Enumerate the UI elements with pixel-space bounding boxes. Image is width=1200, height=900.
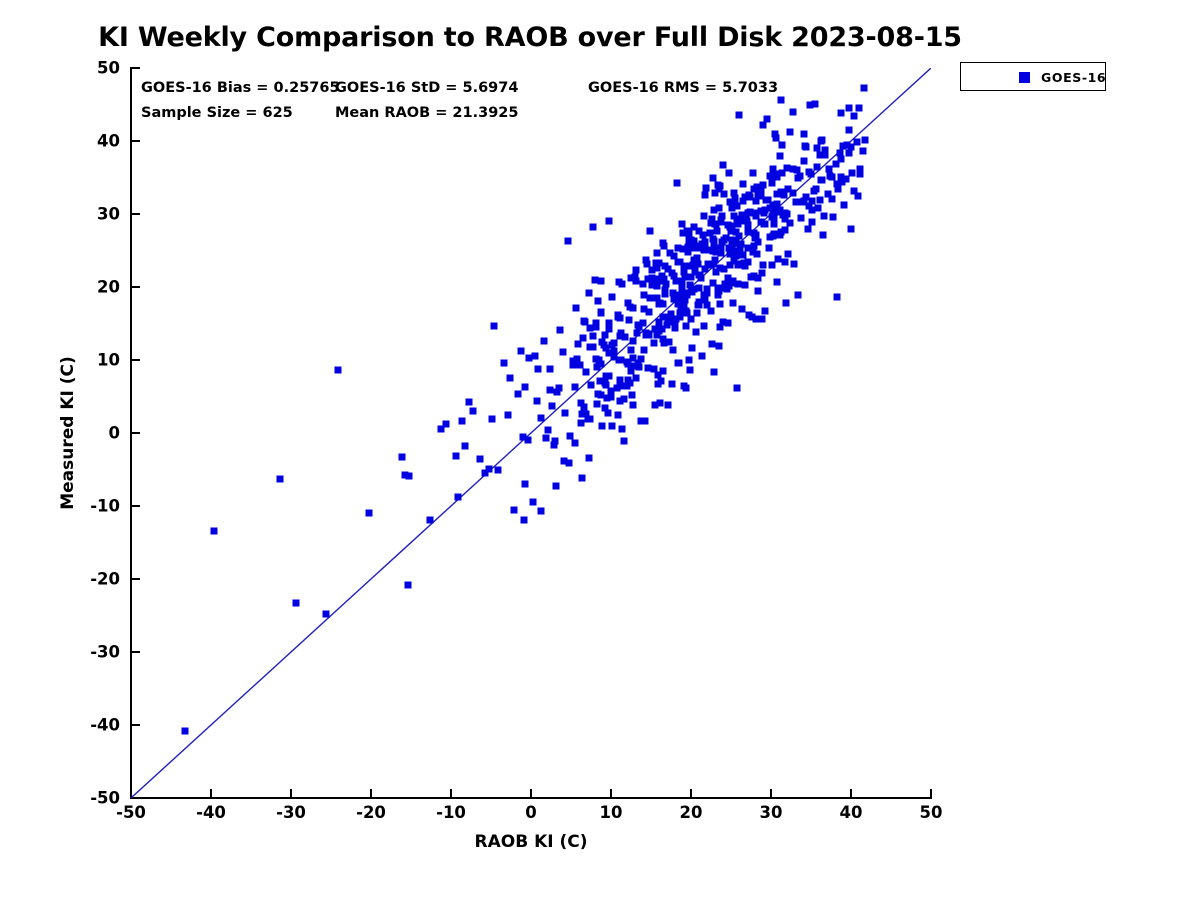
scatter-point — [798, 199, 805, 206]
scatter-point — [182, 727, 189, 734]
scatter-point — [861, 136, 868, 143]
scatter-point — [606, 373, 613, 380]
y-tick-label-30: 30 — [60, 205, 120, 224]
scatter-point — [724, 320, 731, 327]
scatter-point — [669, 269, 676, 276]
scatter-point — [759, 316, 766, 323]
scatter-point — [689, 262, 696, 269]
scatter-point — [738, 306, 745, 313]
scatter-point — [782, 259, 789, 266]
scatter-point — [790, 108, 797, 115]
scatter-point — [520, 434, 527, 441]
scatter-point — [759, 181, 766, 188]
scatter-point — [611, 354, 618, 361]
scatter-point — [577, 361, 584, 368]
scatter-point — [860, 148, 867, 155]
legend-swatch-goes16 — [1019, 72, 1030, 83]
scatter-point — [688, 273, 695, 280]
scatter-point — [674, 180, 681, 187]
scatter-point — [820, 232, 827, 239]
scatter-point — [692, 328, 699, 335]
scatter-point — [651, 340, 658, 347]
scatter-point — [736, 112, 743, 119]
scatter-point — [750, 273, 757, 280]
scatter-point — [593, 319, 600, 326]
scatter-point — [556, 327, 563, 334]
scatter-point — [800, 130, 807, 137]
scatter-point — [777, 228, 784, 235]
x-tick-label-30: 30 — [736, 803, 806, 822]
scatter-point — [404, 581, 411, 588]
scatter-point — [630, 338, 637, 345]
x-tick-label-50: 50 — [896, 803, 966, 822]
x-tick-label--40: -40 — [176, 803, 246, 822]
scatter-point — [608, 294, 615, 301]
scatter-point — [672, 323, 679, 330]
y-tick-label-50: 50 — [60, 59, 120, 78]
x-tick-label-0: 0 — [496, 803, 566, 822]
scatter-point — [609, 423, 616, 430]
scatter-point — [276, 475, 283, 482]
scatter-point — [715, 343, 722, 350]
scatter-point — [585, 289, 592, 296]
scatter-point — [608, 341, 615, 348]
plot-area — [131, 68, 931, 798]
legend-box: GOES-16 — [960, 62, 1106, 91]
scatter-point — [725, 222, 732, 229]
x-tick-label-10: 10 — [576, 803, 646, 822]
scatter-point — [733, 215, 740, 222]
scatter-point — [743, 218, 750, 225]
scatter-point — [617, 330, 624, 337]
scatter-point — [659, 273, 666, 280]
scatter-point — [365, 509, 372, 516]
one-to-one-reference-line — [131, 68, 931, 798]
scatter-point — [753, 232, 760, 239]
scatter-point — [511, 506, 518, 513]
scatter-point — [581, 403, 588, 410]
scatter-point — [720, 237, 727, 244]
scatter-point — [783, 299, 790, 306]
scatter-point — [713, 268, 720, 275]
scatter-point — [733, 385, 740, 392]
scatter-point — [702, 265, 709, 272]
scatter-point — [470, 408, 477, 415]
scatter-point — [687, 316, 694, 323]
scatter-point — [537, 414, 544, 421]
scatter-point — [579, 475, 586, 482]
scatter-point — [693, 245, 700, 252]
scatter-point — [739, 181, 746, 188]
x-axis-label: RAOB KI (C) — [474, 832, 587, 852]
scatter-point — [615, 278, 622, 285]
scatter-point — [755, 287, 762, 294]
scatter-point — [727, 261, 734, 268]
scatter-point — [752, 209, 759, 216]
scatter-point — [813, 186, 820, 193]
scatter-point — [700, 212, 707, 219]
scatter-point — [701, 322, 708, 329]
scatter-point — [643, 330, 650, 337]
scatter-point — [443, 420, 450, 427]
scatter-point — [741, 259, 748, 266]
scatter-point — [638, 417, 645, 424]
scatter-point — [292, 600, 299, 607]
scatter-point — [683, 227, 690, 234]
scatter-point — [661, 290, 668, 297]
scatter-point — [628, 392, 635, 399]
scatter-point — [797, 172, 804, 179]
scatter-point — [660, 300, 667, 307]
scatter-point — [335, 367, 342, 374]
scatter-point — [455, 493, 462, 500]
scatter-point — [845, 127, 852, 134]
scatter-point — [633, 330, 640, 337]
scatter-point — [829, 196, 836, 203]
scatter-point — [681, 273, 688, 280]
scatter-point — [594, 364, 601, 371]
scatter-point — [855, 193, 862, 200]
scatter-point — [814, 205, 821, 212]
scatter-point — [583, 369, 590, 376]
scatter-point — [732, 200, 739, 207]
scatter-point — [795, 292, 802, 299]
scatter-point — [717, 301, 724, 308]
scatter-point — [618, 426, 625, 433]
scatter-point — [779, 141, 786, 148]
scatter-point — [654, 331, 661, 338]
x-tick-label-20: 20 — [656, 803, 726, 822]
scatter-point — [605, 218, 612, 225]
scatter-point — [695, 300, 702, 307]
scatter-point — [607, 393, 614, 400]
scatter-point — [684, 291, 691, 298]
scatter-point — [680, 382, 687, 389]
scatter-point — [803, 143, 810, 150]
y-tick-label--30: -30 — [60, 643, 120, 662]
scatter-point — [687, 236, 694, 243]
scatter-point — [535, 366, 542, 373]
scatter-point — [656, 259, 663, 266]
scatter-point — [615, 411, 622, 418]
scatter-point — [789, 190, 796, 197]
scatter-point — [825, 165, 832, 172]
scatter-point — [587, 382, 594, 389]
scatter-point — [466, 398, 473, 405]
scatter-point — [572, 440, 579, 447]
scatter-point — [848, 226, 855, 233]
scatter-point — [624, 359, 631, 366]
scatter-point — [805, 203, 812, 210]
scatter-point — [653, 250, 660, 257]
scatter-point — [715, 204, 722, 211]
scatter-point — [817, 177, 824, 184]
scatter-point — [640, 306, 647, 313]
scatter-point — [717, 324, 724, 331]
scatter-point — [500, 359, 507, 366]
scatter-point — [761, 220, 768, 227]
scatter-point — [797, 215, 804, 222]
scatter-point — [594, 400, 601, 407]
scatter-point — [663, 280, 670, 287]
scatter-point — [543, 434, 550, 441]
scatter-point — [829, 174, 836, 181]
scatter-point — [585, 454, 592, 461]
scatter-point — [850, 112, 857, 119]
scatter-point — [461, 443, 468, 450]
scatter-point — [730, 299, 737, 306]
scatter-point — [547, 387, 554, 394]
scatter-point — [614, 313, 621, 320]
scatter-point — [784, 165, 791, 172]
scatter-point — [323, 611, 330, 618]
scatter-point — [577, 419, 584, 426]
scatter-point — [805, 225, 812, 232]
x-tick-label--50: -50 — [96, 803, 166, 822]
scatter-point — [781, 192, 788, 199]
scatter-point — [837, 110, 844, 117]
scatter-point — [534, 397, 541, 404]
scatter-point — [848, 143, 855, 150]
reference-line-layer — [131, 68, 931, 798]
scatter-point — [728, 237, 735, 244]
scatter-point — [714, 228, 721, 235]
scatter-point — [808, 170, 815, 177]
scatter-point — [746, 312, 753, 319]
scatter-point — [590, 343, 597, 350]
scatter-point — [725, 245, 732, 252]
scatter-point — [521, 384, 528, 391]
scatter-point — [648, 266, 655, 273]
scatter-point — [744, 210, 751, 217]
scatter-point — [628, 346, 635, 353]
scatter-point — [691, 223, 698, 230]
scatter-point — [820, 212, 827, 219]
scatter-point — [702, 191, 709, 198]
scatter-point — [572, 305, 579, 312]
scatter-point — [540, 338, 547, 345]
scatter-point — [860, 85, 867, 92]
scatter-point — [840, 202, 847, 209]
y-tick-label-40: 40 — [60, 132, 120, 151]
chart-title: KI Weekly Comparison to RAOB over Full D… — [0, 22, 1060, 53]
scatter-point — [507, 375, 514, 382]
scatter-point — [759, 262, 766, 269]
scatter-point — [718, 249, 725, 256]
scatter-point — [599, 423, 606, 430]
scatter-point — [787, 129, 794, 136]
scatter-point — [596, 356, 603, 363]
scatter-point — [664, 401, 671, 408]
scatter-point — [715, 287, 722, 294]
scatter-point — [845, 104, 852, 111]
x-tick-label--20: -20 — [336, 803, 406, 822]
scatter-point — [476, 456, 483, 463]
scatter-point — [707, 308, 714, 315]
scatter-point — [777, 152, 784, 159]
scatter-point — [627, 380, 634, 387]
scatter-point — [663, 313, 670, 320]
scatter-point — [761, 308, 768, 315]
scatter-point — [504, 412, 511, 419]
scatter-point — [515, 391, 522, 398]
scatter-point — [645, 276, 652, 283]
scatter-point — [572, 383, 579, 390]
scatter-point — [667, 250, 674, 257]
scatter-point — [532, 353, 539, 360]
y-tick-label-20: 20 — [60, 278, 120, 297]
scatter-point — [564, 238, 571, 245]
y-tick-label--40: -40 — [60, 716, 120, 735]
scatter-point — [720, 190, 727, 197]
scatter-point — [689, 345, 696, 352]
scatter-point — [567, 432, 574, 439]
scatter-point — [578, 410, 585, 417]
x-tick-label--10: -10 — [416, 803, 486, 822]
scatter-point — [698, 353, 705, 360]
scatter-point — [655, 318, 662, 325]
scatter-point — [811, 101, 818, 108]
scatter-point — [712, 257, 719, 264]
x-tick-label--30: -30 — [256, 803, 326, 822]
scatter-point — [625, 299, 632, 306]
scatter-point — [703, 302, 710, 309]
scatter-point — [559, 349, 566, 356]
scatter-point — [639, 320, 646, 327]
scatter-point — [725, 170, 732, 177]
scatter-point — [742, 281, 749, 288]
scatter-point — [626, 316, 633, 323]
scatter-point — [817, 152, 824, 159]
scatter-point — [647, 228, 654, 235]
scatter-point — [768, 180, 775, 187]
scatter-point — [580, 335, 587, 342]
scatter-point — [677, 313, 684, 320]
scatter-point — [597, 391, 604, 398]
scatter-point — [721, 281, 728, 288]
scatter-point — [569, 358, 576, 365]
scatter-point — [800, 158, 807, 165]
scatter-point — [762, 207, 769, 214]
scatter-point — [781, 215, 788, 222]
legend-label-goes16: GOES-16 — [1041, 70, 1106, 85]
scatter-point — [687, 366, 694, 373]
scatter-point — [647, 294, 654, 301]
scatter-point — [552, 438, 559, 445]
scatter-point — [604, 410, 611, 417]
scatter-point — [833, 294, 840, 301]
scatter-point — [708, 340, 715, 347]
scatter-point — [495, 466, 502, 473]
scatter-point — [784, 250, 791, 257]
scatter-point — [740, 252, 747, 259]
scatter-point — [774, 279, 781, 286]
scatter-point — [628, 274, 635, 281]
scatter-point — [653, 294, 660, 301]
scatter-point — [685, 357, 692, 364]
scatter-point — [459, 418, 466, 425]
scatter-point — [739, 197, 746, 204]
scatter-point — [749, 170, 756, 177]
scatter-point — [589, 223, 596, 230]
scatter-point — [769, 232, 776, 239]
scatter-point — [765, 245, 772, 252]
scatter-point — [769, 207, 776, 214]
scatter-point — [711, 237, 718, 244]
scatter-point — [680, 300, 687, 307]
scatter-point — [522, 480, 529, 487]
scatter-point — [856, 104, 863, 111]
scatter-point — [703, 290, 710, 297]
scatter-point — [597, 277, 604, 284]
scatter-point — [616, 398, 623, 405]
scatter-point — [719, 213, 726, 220]
chart-canvas: KI Weekly Comparison to RAOB over Full D… — [0, 0, 1200, 900]
scatter-point — [711, 368, 718, 375]
scatter-point — [633, 375, 640, 382]
scatter-point — [562, 409, 569, 416]
scatter-point — [777, 97, 784, 104]
scatter-point — [652, 402, 659, 409]
scatter-point — [753, 198, 760, 205]
scatter-point — [618, 383, 625, 390]
scatter-point — [719, 161, 726, 168]
scatter-point — [537, 508, 544, 515]
scatter-point — [764, 116, 771, 123]
scatter-point — [767, 172, 774, 179]
scatter-point — [488, 416, 495, 423]
scatter-point — [594, 297, 601, 304]
scatter-point — [530, 498, 537, 505]
scatter-point — [659, 368, 666, 375]
scatter-point — [731, 189, 738, 196]
scatter-point — [857, 171, 864, 178]
scatter-point — [518, 348, 525, 355]
scatter-point — [406, 473, 413, 480]
scatter-point — [671, 295, 678, 302]
scatter-point — [839, 142, 846, 149]
scatter-point — [669, 346, 676, 353]
scatter-point — [660, 239, 667, 246]
scatter-point — [838, 179, 845, 186]
scatter-point — [586, 325, 593, 332]
scatter-point — [714, 181, 721, 188]
x-tick-label-40: 40 — [816, 803, 886, 822]
scatter-point — [597, 308, 604, 315]
scatter-point — [602, 344, 609, 351]
scatter-point — [683, 307, 690, 314]
scatter-point — [678, 221, 685, 228]
scatter-point — [813, 144, 820, 151]
scatter-point — [549, 403, 556, 410]
scatter-point — [829, 213, 836, 220]
scatter-point — [848, 170, 855, 177]
scatter-point — [608, 387, 615, 394]
scatter-point — [816, 197, 823, 204]
scatter-point — [837, 150, 844, 157]
scatter-point — [769, 261, 776, 268]
scatter-point — [486, 465, 493, 472]
scatter-point — [650, 366, 657, 373]
scatter-point — [751, 242, 758, 249]
scatter-point — [818, 136, 825, 143]
scatter-point — [771, 131, 778, 138]
scatter-point — [399, 454, 406, 461]
scatter-point — [641, 346, 648, 353]
scatter-point — [552, 483, 559, 490]
scatter-point — [770, 221, 777, 228]
scatter-point — [491, 323, 498, 330]
